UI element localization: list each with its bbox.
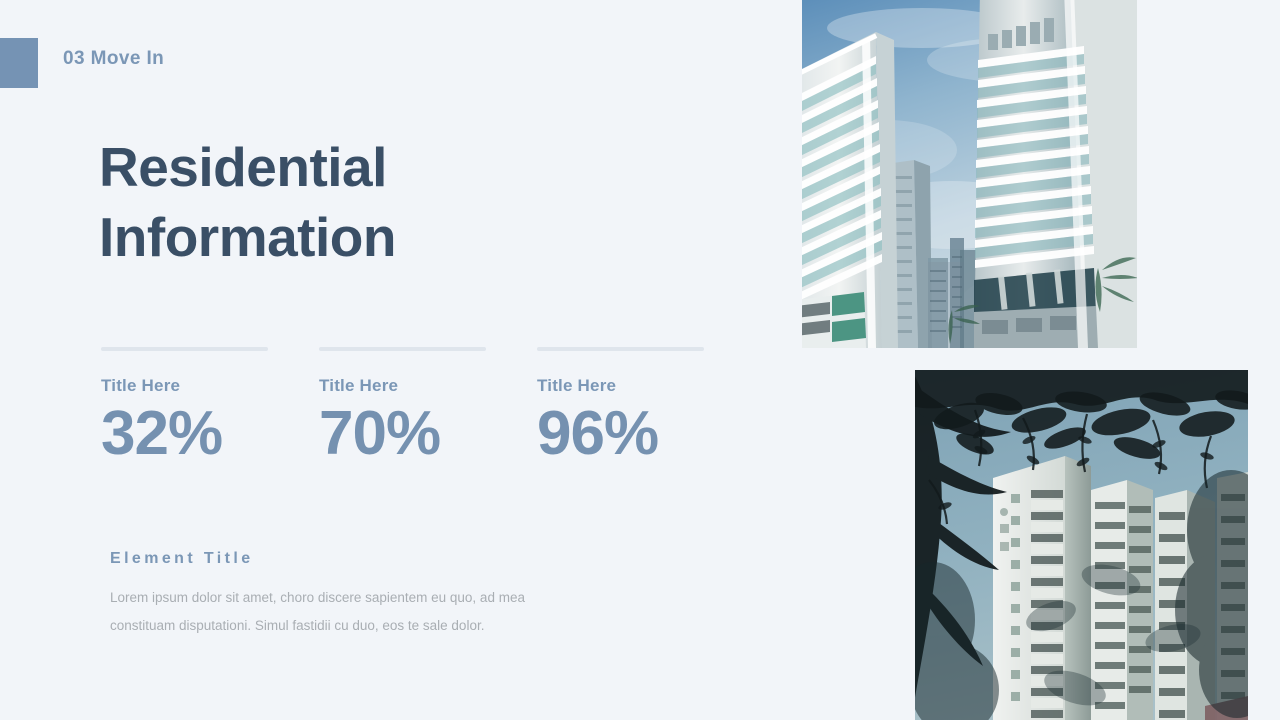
stat-title: Title Here xyxy=(101,376,268,396)
page-title: Residential Information xyxy=(99,132,719,272)
stat-card-1: Title Here 32% xyxy=(101,347,268,468)
stat-value: 96% xyxy=(537,400,704,468)
highrise-towers-artwork xyxy=(802,0,1137,348)
stat-value: 70% xyxy=(319,400,486,468)
stat-divider xyxy=(319,347,486,351)
highrise-towers-photo xyxy=(802,0,1137,348)
stat-title: Title Here xyxy=(319,376,486,396)
element-body-text: Lorem ipsum dolor sit amet, choro discer… xyxy=(110,584,540,640)
apartment-through-trees-photo xyxy=(915,370,1248,720)
slide-canvas: 03 Move In Residential Information Title… xyxy=(0,0,1280,720)
stat-divider xyxy=(101,347,268,351)
accent-square xyxy=(0,38,38,88)
element-title: Element Title xyxy=(110,550,540,568)
section-eyebrow: 03 Move In xyxy=(63,48,164,70)
stat-divider xyxy=(537,347,704,351)
page-title-line-1: Residential xyxy=(99,132,719,202)
stats-row: Title Here 32% Title Here 70% Title Here… xyxy=(101,347,721,468)
stat-value: 32% xyxy=(101,400,268,468)
apartment-through-trees-artwork xyxy=(915,370,1248,720)
element-block: Element Title Lorem ipsum dolor sit amet… xyxy=(110,550,540,640)
stat-card-2: Title Here 70% xyxy=(319,347,486,468)
page-title-line-2: Information xyxy=(99,202,719,272)
stat-card-3: Title Here 96% xyxy=(537,347,704,468)
stat-title: Title Here xyxy=(537,376,704,396)
